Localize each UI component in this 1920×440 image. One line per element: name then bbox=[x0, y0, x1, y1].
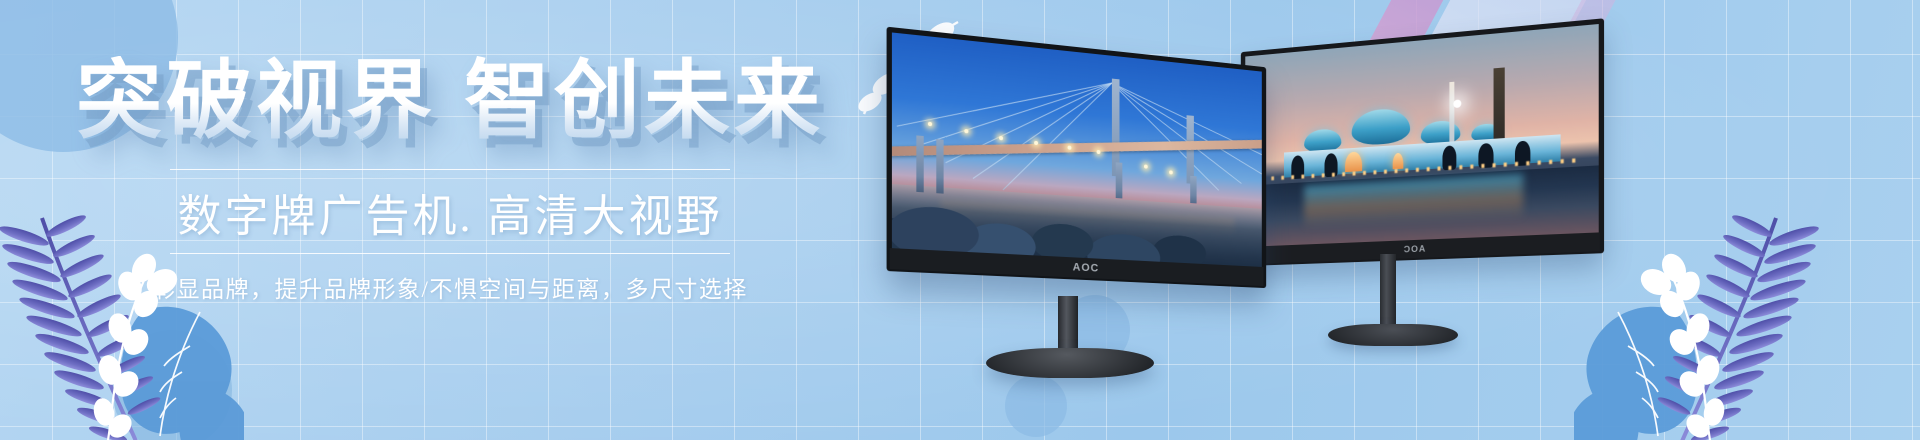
aoc-logo-front: AOC bbox=[1073, 261, 1100, 274]
monitor-front-stand-base bbox=[986, 348, 1154, 378]
bridge-screen-artwork bbox=[892, 32, 1262, 266]
subtitle-group: 数字牌广告机. 高清大视野 bbox=[170, 169, 730, 254]
monitor-back-stand-base bbox=[1328, 324, 1458, 346]
promo-banner: 突破视界 智创未来 数字牌广告机. 高清大视野 彰显品牌，提升品牌形象/不惧空间… bbox=[0, 0, 1920, 440]
decorative-circle-mid-b bbox=[1005, 375, 1067, 437]
page-title: 突破视界 智创未来 bbox=[0, 56, 900, 147]
aoc-logo-back: AOC bbox=[1403, 244, 1425, 255]
divider-bottom bbox=[170, 253, 730, 254]
monitor-front-panel: AOC bbox=[887, 27, 1267, 288]
monitor-back-panel: AOC bbox=[1241, 18, 1604, 266]
botanical-cluster-left-icon bbox=[0, 160, 244, 440]
botanical-cluster-right-icon bbox=[1574, 160, 1824, 440]
monitor-back-screen bbox=[1245, 24, 1598, 247]
product-monitor-front[interactable]: AOC bbox=[890, 48, 1290, 358]
banner-subtitle: 数字牌广告机. 高清大视野 bbox=[170, 170, 730, 253]
mosque-screen-artwork bbox=[1245, 24, 1598, 247]
monitor-back-stand-neck bbox=[1380, 254, 1396, 330]
monitor-front-screen bbox=[892, 32, 1262, 266]
